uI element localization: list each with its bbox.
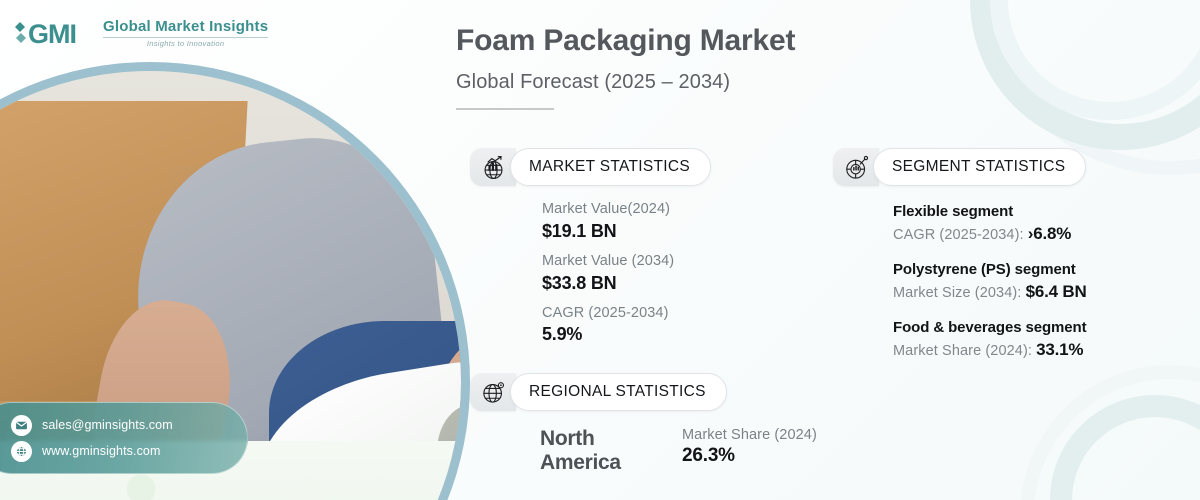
- segment-metric-value: 33.1%: [1036, 340, 1083, 359]
- decorative-arc-bottom-right-inner: [1050, 395, 1200, 500]
- brand-tagline: Insights to Innovation: [103, 40, 268, 48]
- segment-title: Polystyrene (PS) segment: [893, 260, 1087, 280]
- market-stat-row: Market Value(2024) $19.1 BN: [542, 200, 711, 243]
- decorative-arc-top-right-inner: [990, 0, 1200, 120]
- regional-statistics-heading: REGIONAL STATISTICS: [510, 373, 727, 411]
- market-statistics-heading: MARKET STATISTICS: [510, 148, 711, 186]
- segment-row: Food & beverages segment Market Share (2…: [893, 318, 1087, 362]
- segment-statistics-list: Flexible segment CAGR (2025-2034): ›6.8%…: [833, 202, 1087, 362]
- market-statistics-header: MARKET STATISTICS: [470, 148, 711, 186]
- contact-badge: sales@gminsights.com www.gminsights.com: [0, 402, 248, 474]
- segment-metric-value: $6.4 BN: [1026, 282, 1087, 301]
- market-stat-label: Market Value(2024): [542, 200, 711, 220]
- market-stat-value: $19.1 BN: [542, 220, 711, 243]
- regional-statistics-block: REGIONAL STATISTICS North America Market…: [470, 373, 817, 474]
- segment-title: Flexible segment: [893, 202, 1087, 222]
- segment-metric-line: CAGR (2025-2034): ›6.8%: [893, 222, 1087, 246]
- contact-website-text: www.gminsights.com: [42, 444, 161, 458]
- segment-row: Flexible segment CAGR (2025-2034): ›6.8%: [893, 202, 1087, 246]
- envelope-icon: [11, 415, 32, 436]
- regional-metric-label: Market Share (2024): [682, 427, 817, 443]
- headline-divider: [456, 108, 554, 110]
- market-statistics-block: MARKET STATISTICS Market Value(2024) $19…: [470, 148, 711, 347]
- market-stat-row: CAGR (2025-2034) 5.9%: [542, 304, 711, 347]
- market-statistics-list: Market Value(2024) $19.1 BN Market Value…: [470, 200, 711, 347]
- segment-metric-line: Market Size (2034): $6.4 BN: [893, 280, 1087, 304]
- gmi-diamond-logo-icon: GMI: [14, 16, 94, 50]
- contact-email-row[interactable]: sales@gminsights.com: [11, 415, 235, 436]
- brand-logo-text: Global Market Insights Insights to Innov…: [103, 19, 268, 48]
- regional-metric-value: 26.3%: [682, 445, 817, 467]
- segment-row: Polystyrene (PS) segment Market Size (20…: [893, 260, 1087, 304]
- segment-statistics-heading: SEGMENT STATISTICS: [873, 148, 1086, 186]
- regional-metric-group: Market Share (2024) 26.3%: [682, 427, 817, 467]
- segment-statistics-block: SEGMENT STATISTICS Flexible segment CAGR…: [833, 148, 1087, 362]
- globe-icon: [11, 441, 32, 462]
- brand-logo[interactable]: GMI Global Market Insights Insights to I…: [14, 16, 268, 50]
- segment-metric-label: CAGR (2025-2034):: [893, 227, 1028, 243]
- segment-metric-value: ›6.8%: [1028, 224, 1071, 243]
- page-title: Foam Packaging Market: [456, 24, 795, 59]
- brand-logo-divider: [103, 37, 268, 38]
- segment-statistics-header: SEGMENT STATISTICS: [833, 148, 1086, 186]
- segment-metric-line: Market Share (2024): 33.1%: [893, 338, 1087, 362]
- regional-statistics-header: REGIONAL STATISTICS: [470, 373, 727, 411]
- page-subtitle: Global Forecast (2025 – 2034): [456, 71, 795, 94]
- segment-metric-label: Market Share (2024):: [893, 343, 1036, 359]
- segment-metric-label: Market Size (2034):: [893, 285, 1026, 301]
- market-stat-row: Market Value (2034) $33.8 BN: [542, 252, 711, 295]
- regional-region-name: North America: [540, 427, 660, 474]
- segment-title: Food & beverages segment: [893, 318, 1087, 338]
- market-stat-value: $33.8 BN: [542, 272, 711, 295]
- regional-statistics-body: North America Market Share (2024) 26.3%: [470, 427, 817, 474]
- svg-text:GMI: GMI: [28, 19, 76, 49]
- market-stat-value: 5.9%: [542, 323, 711, 346]
- decorative-arc-top-right-mid: [970, 0, 1200, 150]
- market-stat-label: CAGR (2025-2034): [542, 304, 711, 324]
- contact-website-row[interactable]: www.gminsights.com: [11, 441, 235, 462]
- infographic-canvas: sales@gminsights.com www.gminsights.com: [0, 0, 1200, 500]
- brand-company-name: Global Market Insights: [103, 19, 268, 34]
- decorative-arc-bottom-right-outer: [1020, 365, 1200, 500]
- contact-email-text: sales@gminsights.com: [42, 418, 173, 432]
- headline-group: Foam Packaging Market Global Forecast (2…: [456, 24, 795, 110]
- market-stat-label: Market Value (2034): [542, 252, 711, 272]
